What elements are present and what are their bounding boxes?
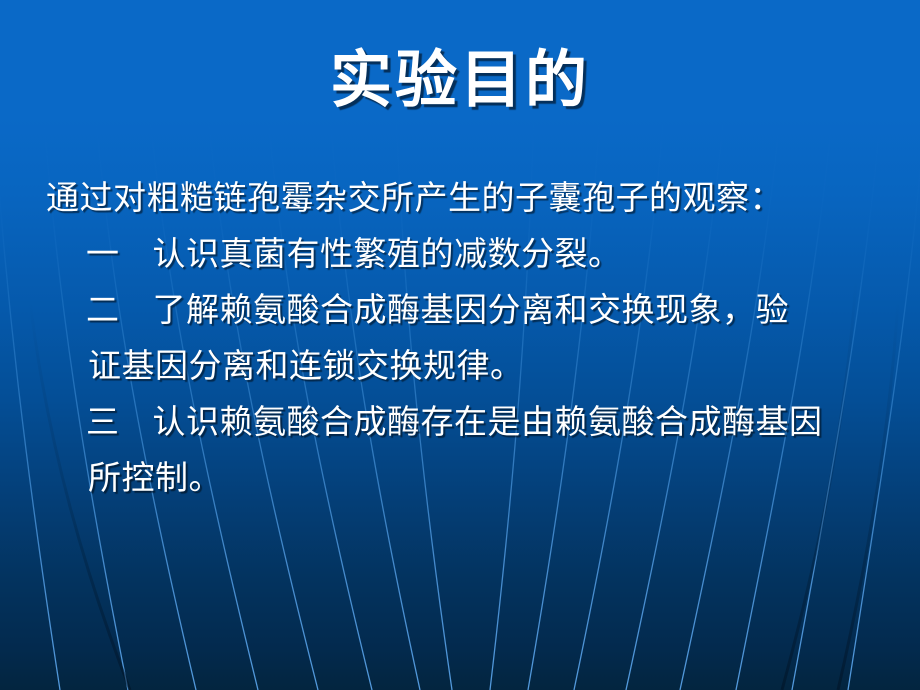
body-line-item-2-cont: 证基因分离和连锁交换规律。 xyxy=(44,338,880,394)
body-line-item-3: 三 认识赖氨酸合成酶存在是由赖氨酸合成酶基因 xyxy=(44,394,880,450)
page-title: 实验目的 xyxy=(330,46,590,114)
presentation-slide: 实验目的 通过对粗糙链孢霉杂交所产生的子囊孢子的观察： 一 认识真菌有性繁殖的减… xyxy=(0,0,920,690)
body-line-item-3-cont: 所控制。 xyxy=(44,450,880,506)
body-line-item-2: 二 了解赖氨酸合成酶基因分离和交换现象，验 xyxy=(44,282,880,338)
body-line-item-1: 一 认识真菌有性繁殖的减数分裂。 xyxy=(44,226,880,282)
body-line-intro: 通过对粗糙链孢霉杂交所产生的子囊孢子的观察： xyxy=(44,170,880,226)
slide-body-block: 通过对粗糙链孢霉杂交所产生的子囊孢子的观察： 一 认识真菌有性繁殖的减数分裂。 … xyxy=(44,170,880,506)
slide-title-block: 实验目的 xyxy=(0,46,920,114)
